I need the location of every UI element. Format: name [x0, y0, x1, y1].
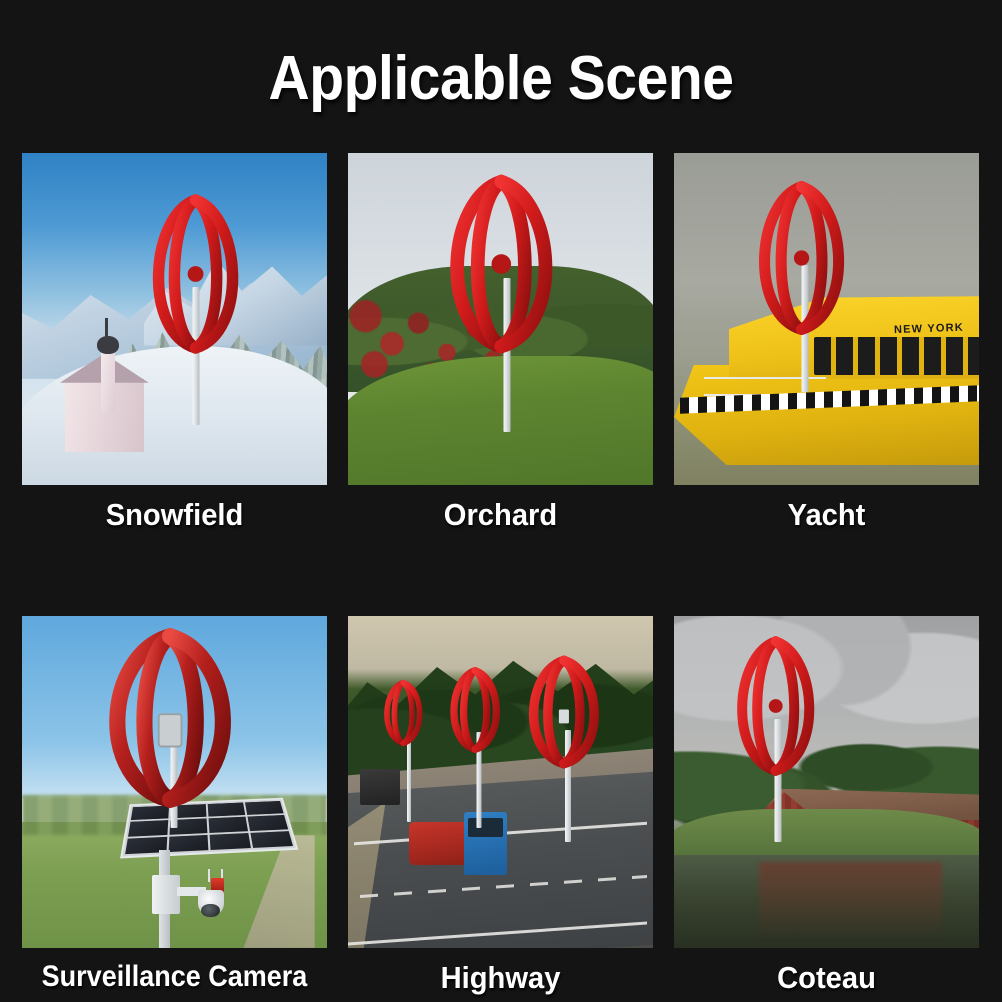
scene-card-surveillance-camera[interactable]: Surveillance Camera — [22, 616, 327, 996]
scene-caption-snowfield: Snowfield — [31, 497, 318, 533]
scene-caption-coteau: Coteau — [683, 960, 970, 996]
page-title: Applicable Scene — [40, 46, 962, 111]
scene-grid: Snowfield — [22, 153, 980, 996]
scene-caption-highway: Highway — [357, 960, 644, 996]
wind-turbine-icon — [59, 623, 291, 829]
wind-turbine-icon — [501, 649, 635, 842]
scene-card-orchard[interactable]: Orchard — [348, 153, 653, 533]
scene-caption-yacht: Yacht — [683, 497, 970, 533]
scene-image-orchard[interactable] — [348, 153, 653, 485]
scene-card-yacht[interactable]: NEW YORK — [674, 153, 979, 533]
scene-card-coteau[interactable]: Coteau — [674, 616, 979, 996]
wind-turbine-icon — [107, 186, 284, 425]
water-reflection — [759, 862, 942, 942]
scene-image-yacht[interactable]: NEW YORK — [674, 153, 979, 485]
scene-caption-surveillance-camera: Surveillance Camera — [37, 960, 312, 994]
wind-turbine-icon — [698, 629, 857, 841]
scene-image-snowfield[interactable] — [22, 153, 327, 485]
scene-image-highway[interactable] — [348, 616, 653, 948]
wind-turbine-icon — [717, 173, 894, 392]
antenna-icon — [208, 869, 210, 883]
scene-image-coteau[interactable] — [674, 616, 979, 948]
wind-turbine-icon — [403, 166, 610, 432]
scene-caption-orchard: Orchard — [357, 497, 644, 533]
scene-card-snowfield[interactable]: Snowfield — [22, 153, 327, 533]
camera-lens-icon — [201, 904, 219, 918]
scene-card-highway[interactable]: Highway — [348, 616, 653, 996]
scene-image-surveillance-camera[interactable] — [22, 616, 327, 948]
